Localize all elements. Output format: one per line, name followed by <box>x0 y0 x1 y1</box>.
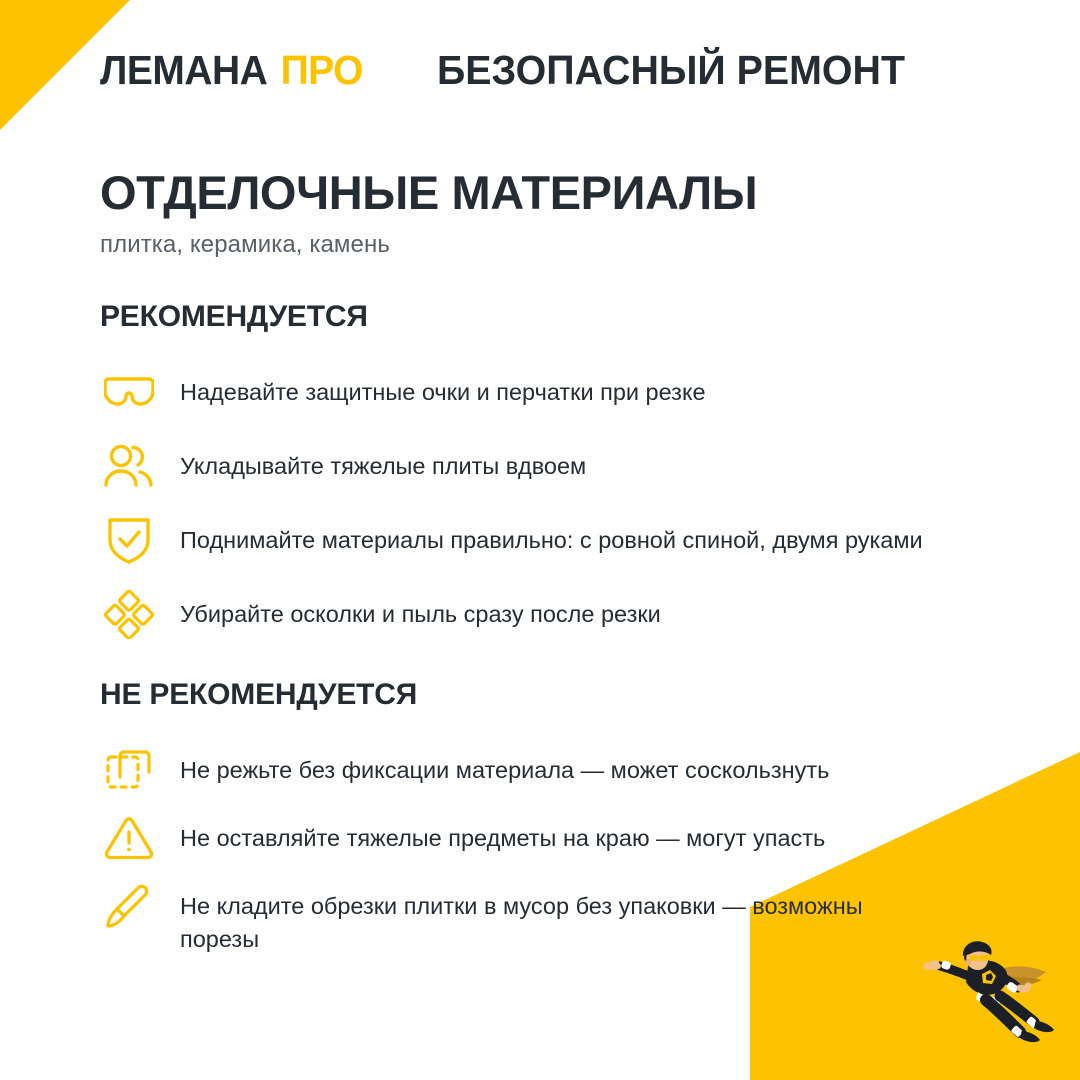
list-item: Поднимайте материалы правильно: с ровной… <box>100 516 990 566</box>
section-recommended: РЕКОМЕНДУЕТСЯ Надевайте защитные очки и … <box>100 300 990 640</box>
logo-word-lemana: ЛЕМАНА <box>100 47 267 94</box>
list-item-text: Не оставляйте тяжелые предметы на краю —… <box>180 814 825 855</box>
list-item-text: Не кладите обрезки плитки в мусор без уп… <box>180 882 940 957</box>
header: ЛЕМАНА ПРО БЕЗОПАСНЫЙ РЕМОНТ <box>100 38 1020 102</box>
list-item-text: Надевайте защитные очки и перчатки при р… <box>180 368 706 409</box>
flying-superhero-mascot <box>914 926 1062 1046</box>
safety-goggles-icon <box>100 366 158 418</box>
diamond-tiles-icon <box>100 588 158 640</box>
infographic-page: ЛЕМАНА ПРО БЕЗОПАСНЫЙ РЕМОНТ ОТДЕЛОЧНЫЕ … <box>0 0 1080 1080</box>
page-subtitle: плитка, керамика, камень <box>100 231 980 259</box>
shield-check-icon <box>100 514 158 566</box>
list-item: Надевайте защитные очки и перчатки при р… <box>100 368 990 418</box>
campaign-title: БЕЗОПАСНЫЙ РЕМОНТ <box>437 47 905 94</box>
section-heading-recommended: РЕКОМЕНДУЕТСЯ <box>100 300 990 334</box>
list-item-text: Укладывайте тяжелые плиты вдвоем <box>180 442 586 483</box>
list-item-text: Убирайте осколки и пыль сразу после резк… <box>180 590 661 631</box>
section-heading-not-recommended: НЕ РЕКОМЕНДУЕТСЯ <box>100 678 990 712</box>
warning-triangle-icon <box>100 812 158 864</box>
section-not-recommended: НЕ РЕКОМЕНДУЕТСЯ Не режьте без фиксации … <box>100 678 990 975</box>
not-recommended-item-list: Не режьте без фиксации материала — может… <box>100 746 990 957</box>
page-title: ОТДЕЛОЧНЫЕ МАТЕРИАЛЫ <box>100 168 980 219</box>
list-item: Не оставляйте тяжелые предметы на краю —… <box>100 814 990 864</box>
recommended-item-list: Надевайте защитные очки и перчатки при р… <box>100 368 990 640</box>
list-item: Не режьте без фиксации материала — может… <box>100 746 990 796</box>
title-block: ОТДЕЛОЧНЫЕ МАТЕРИАЛЫ плитка, керамика, к… <box>100 168 980 259</box>
list-item-text: Не режьте без фиксации материала — может… <box>180 746 829 787</box>
knife-icon <box>100 880 158 932</box>
two-people-icon <box>100 440 158 492</box>
unfixed-frame-icon <box>100 744 158 796</box>
list-item-text: Поднимайте материалы правильно: с ровной… <box>180 516 923 557</box>
logo-word-pro: ПРО <box>281 47 363 94</box>
list-item: Не кладите обрезки плитки в мусор без уп… <box>100 882 990 957</box>
lemana-pro-logo: ЛЕМАНА ПРО <box>100 47 363 94</box>
list-item: Убирайте осколки и пыль сразу после резк… <box>100 590 990 640</box>
list-item: Укладывайте тяжелые плиты вдвоем <box>100 442 990 492</box>
